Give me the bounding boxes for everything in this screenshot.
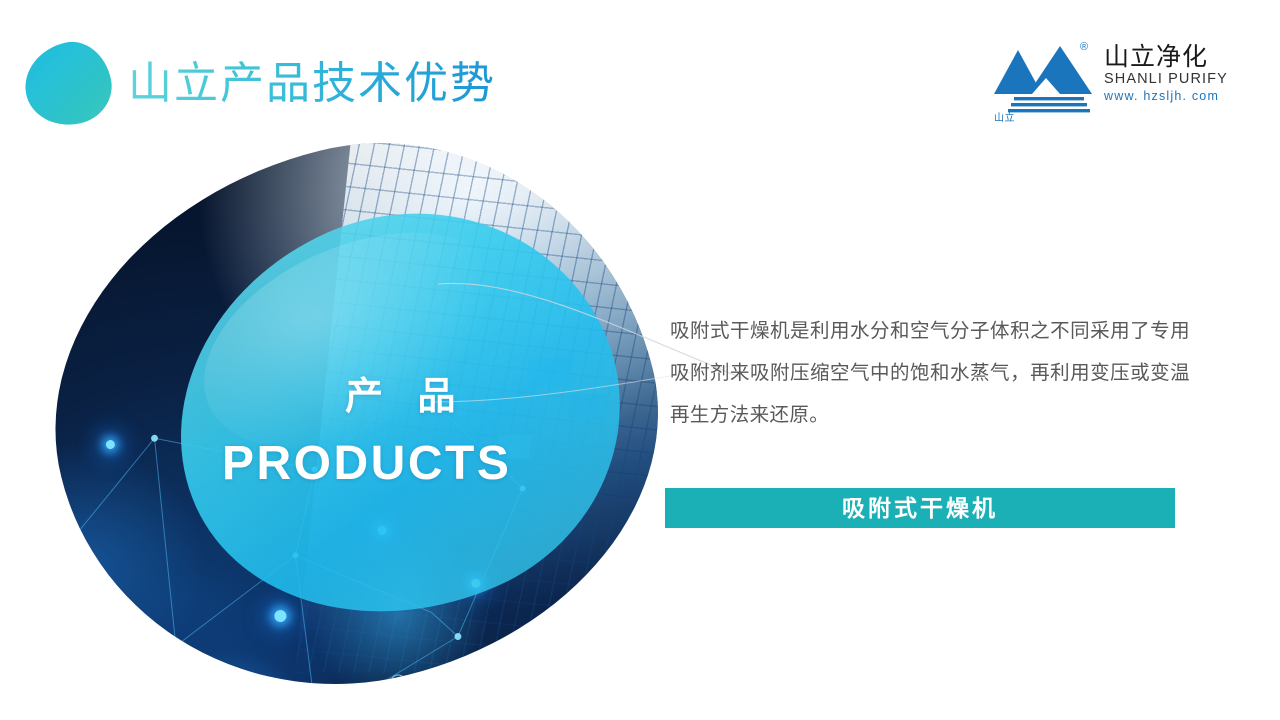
logo-company-cn: 山立净化 [1104,44,1224,70]
logo-mark-caption: 山立 [994,114,1015,124]
slide-canvas: 山立产品技术优势 ® 山立 山立净化 SHANLI PURIFY www. hz… [0,0,1280,720]
company-logo: ® 山立 山立净化 SHANLI PURIFY www. hzsljh. com [992,38,1222,126]
product-hero-graphic [55,150,655,680]
logo-wordmark: 山立净化 SHANLI PURIFY www. hzsljh. com [1104,44,1224,105]
page-title: 山立产品技术优势 [128,58,496,111]
outer-blob-shape [0,85,710,720]
registered-trademark-icon: ® [1080,42,1088,53]
product-description: 吸附式干燥机是利用水分和空气分子体积之不同采用了专用吸附剂来吸附压缩空气中的饱和… [670,310,1190,436]
header-accent-blob-icon [17,35,118,133]
product-name-banner: 吸附式干燥机 [665,488,1175,528]
logo-website: www. hzsljh. com [1104,88,1224,104]
product-name-banner-label: 吸附式干燥机 [842,497,998,520]
network-node [64,594,75,605]
logo-company-en: SHANLI PURIFY [1104,70,1224,88]
blob-highlight [171,189,540,491]
